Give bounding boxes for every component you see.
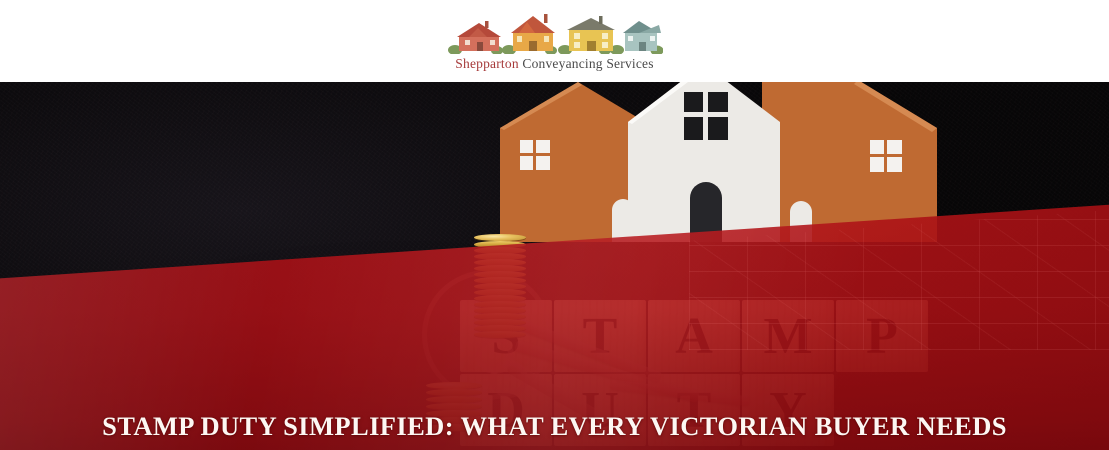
logo-word-conveyancing: Conveyancing [522, 56, 602, 71]
logo-word-services: Services [606, 56, 653, 71]
logo-houses-illustration [447, 12, 663, 54]
site-logo[interactable]: Shepparton Conveyancing Services [447, 6, 663, 76]
hero-headline: Stamp Duty Simplified: What Every Victor… [0, 400, 1109, 450]
site-header: Shepparton Conveyancing Services [0, 0, 1109, 82]
logo-house-red [457, 21, 501, 51]
logo-word-shepparton: Shepparton [455, 56, 519, 71]
logo-house-teal [623, 21, 661, 51]
hero-banner: D U T Y S T A M P Stamp Duty Simplified:… [0, 82, 1109, 450]
logo-house-orange [511, 14, 555, 51]
logo-house-yellow [567, 16, 615, 51]
page-root: Shepparton Conveyancing Services [0, 0, 1109, 450]
headline-line-1: Stamp Duty Simplified: What Every Victor… [44, 400, 1065, 450]
house-block-center [628, 82, 780, 242]
logo-wordmark: Shepparton Conveyancing Services [455, 56, 653, 72]
